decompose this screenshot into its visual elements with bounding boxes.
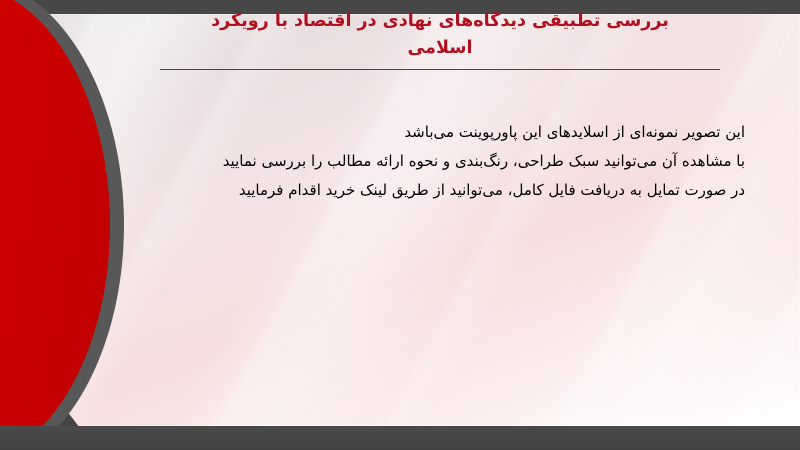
- body-line-3: در صورت تمایل به دریافت فایل کامل، می‌تو…: [105, 176, 745, 205]
- slide-canvas: بررسی تطبیقی دیدگاه‌های نهادی در اقتصاد …: [0, 0, 800, 450]
- title-underline: [160, 69, 720, 70]
- content-panel: [34, 14, 800, 426]
- body-text-block: این تصویر نمونه‌ای از اسلایدهای این پاور…: [105, 118, 745, 205]
- title-block: بررسی تطبیقی دیدگاه‌های نهادی در اقتصاد …: [110, 8, 770, 70]
- slide-title: بررسی تطبیقی دیدگاه‌های نهادی در اقتصاد …: [110, 8, 770, 62]
- body-line-2: با مشاهده آن می‌توانید سبک طراحی، رنگ‌بن…: [105, 147, 745, 176]
- slide-bottom-band: [0, 426, 800, 450]
- body-line-1: این تصویر نمونه‌ای از اسلایدهای این پاور…: [105, 118, 745, 147]
